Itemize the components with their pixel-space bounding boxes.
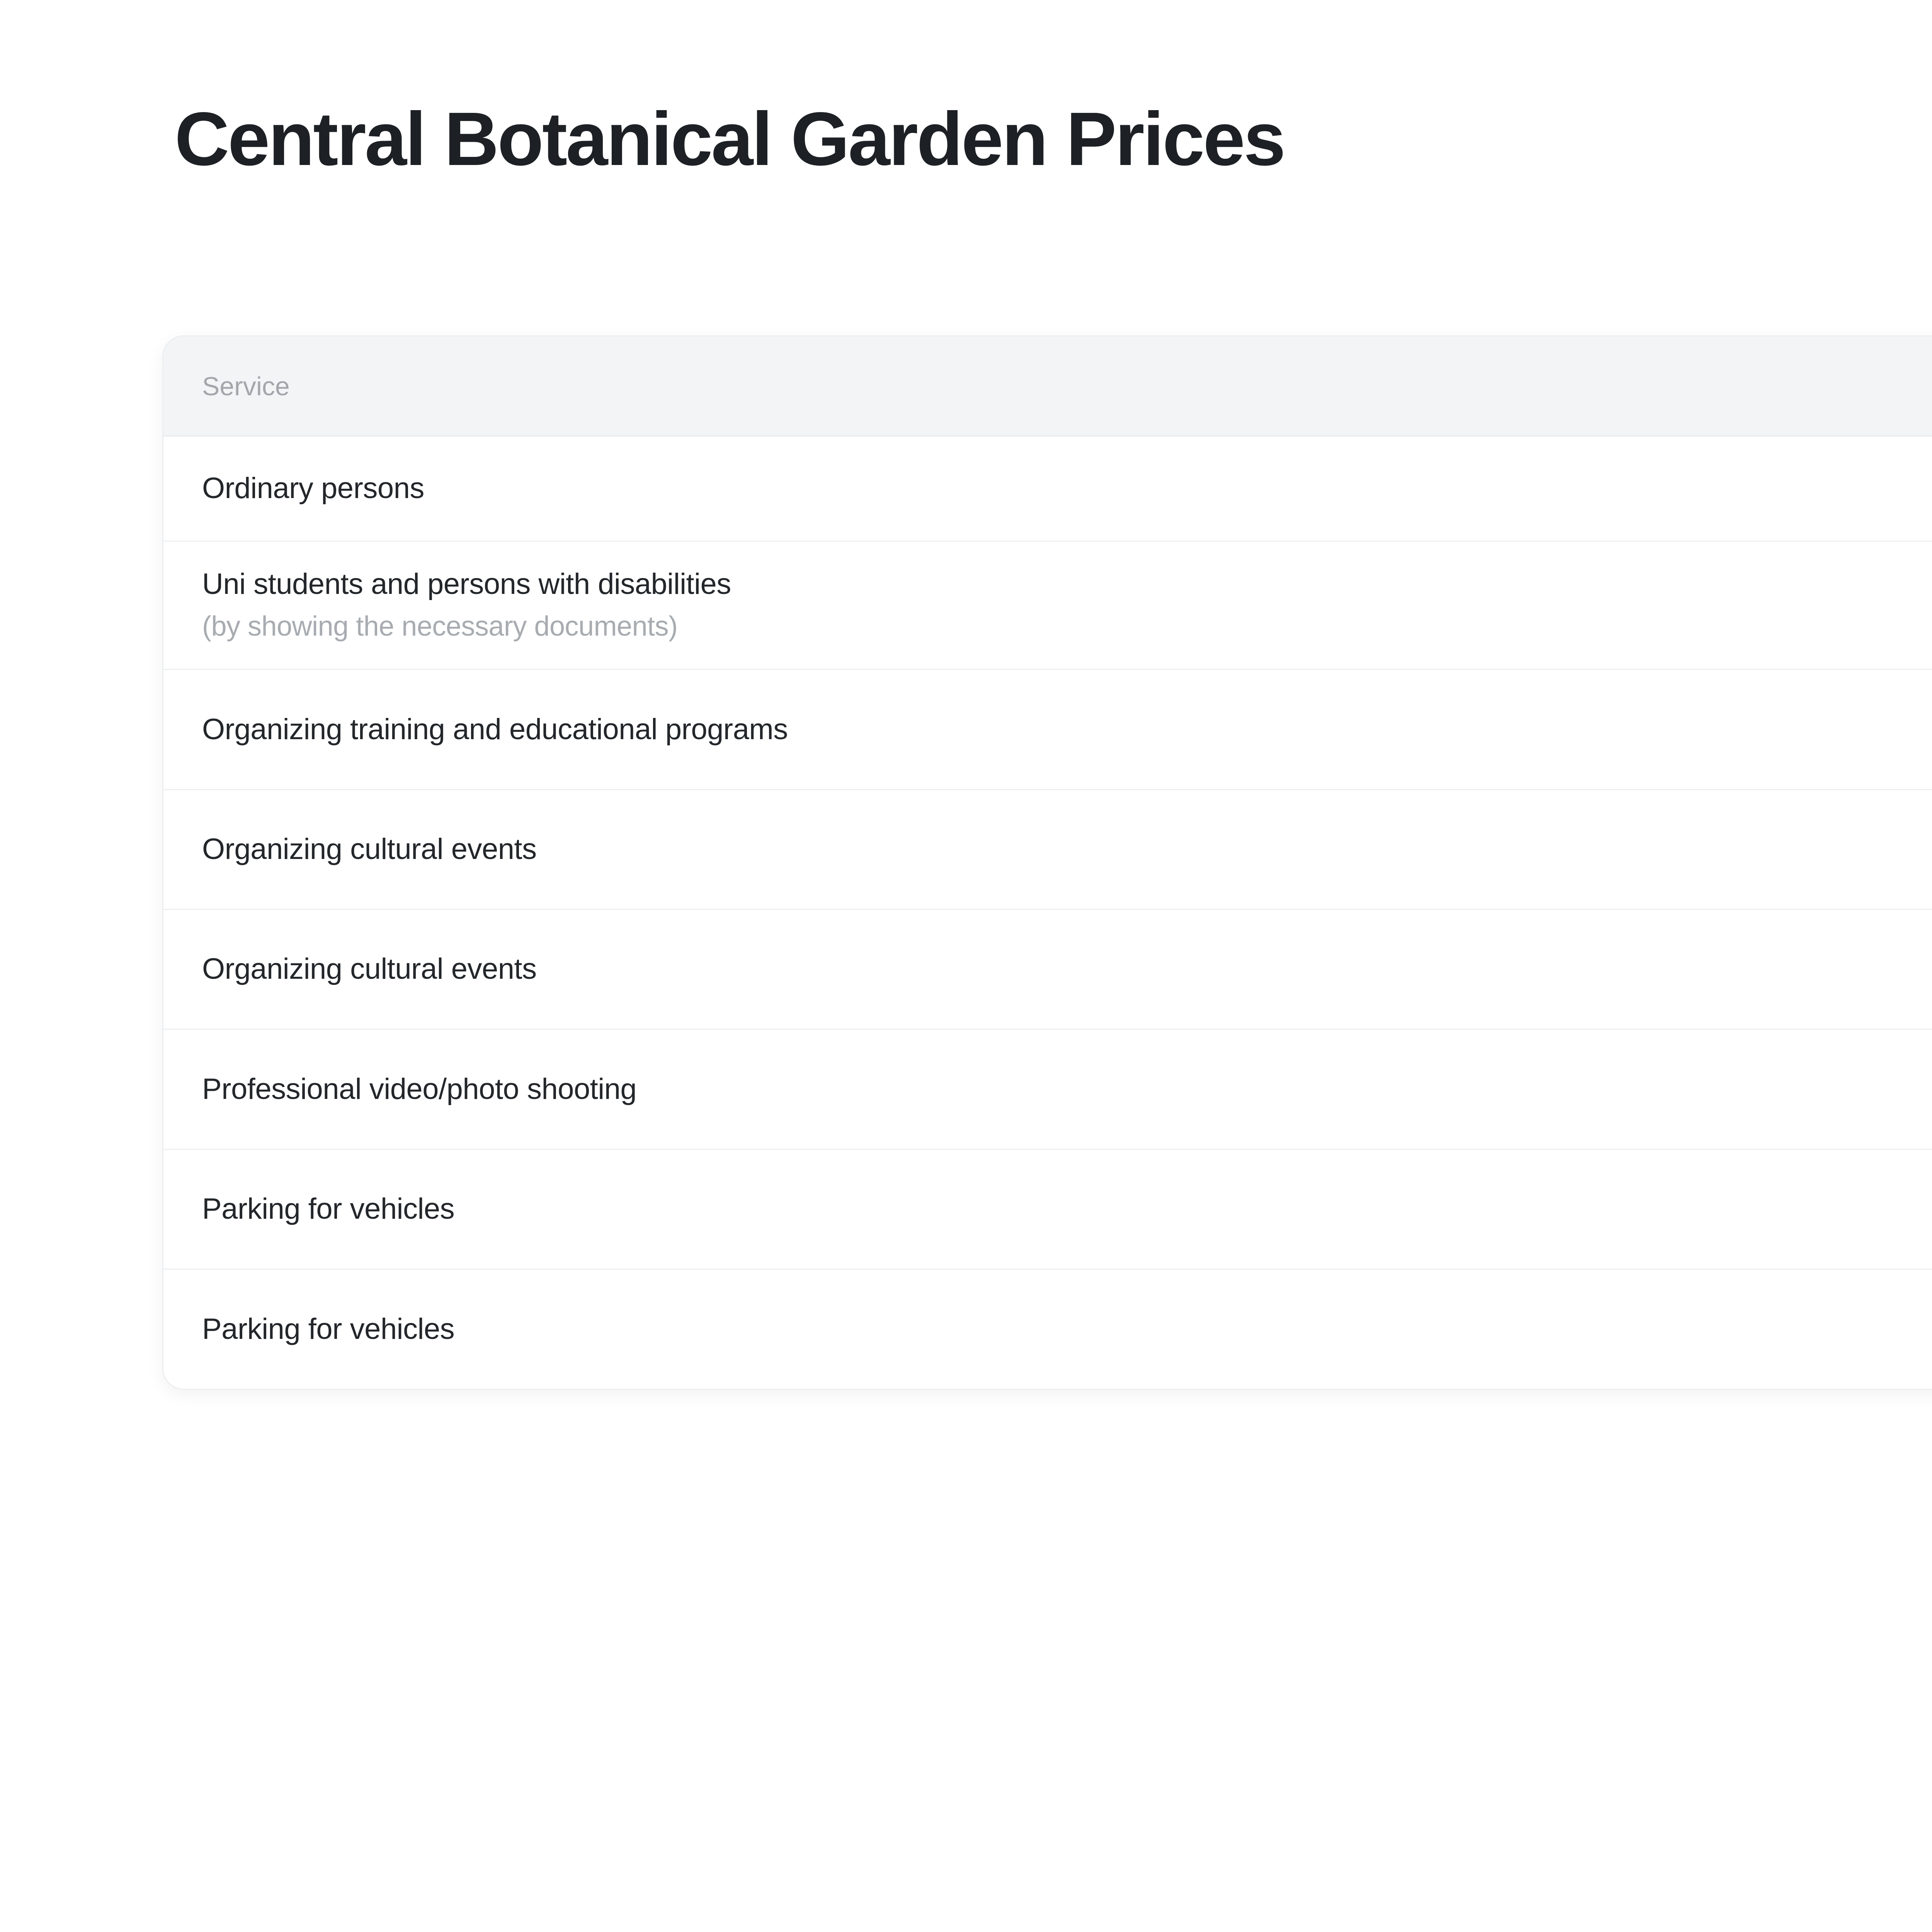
service-name: Organizing cultural events [202,832,1932,867]
service-cell: Professional video/photo shooting [163,1029,1932,1149]
service-cell: Parking for vehicles [163,1149,1932,1269]
table-row: Parking for vehicles0.50₼(per vehicle)Pe… [163,1149,1932,1269]
table-row: Uni students and persons with disabiliti… [163,541,1932,670]
table-row: Organizing cultural events50₼(up to 50 p… [163,789,1932,909]
table-row: Professional video/photo shooting20₼(per… [163,1029,1932,1149]
service-name: Parking for vehicles [202,1191,1932,1227]
table-row: Ordinary persons2₼Daily fee [163,436,1932,541]
service-name: Uni students and persons with disabiliti… [202,566,1932,602]
column-header-service: Service [163,337,1932,436]
table-body: Ordinary persons2₼Daily feeUni students … [163,436,1932,1389]
service-name: Organizing training and educational prog… [202,712,1932,748]
service-cell: Uni students and persons with disabiliti… [163,541,1932,670]
table-header: Service Price Notes [163,337,1932,436]
service-name: Organizing cultural events [202,951,1932,987]
service-name: Ordinary persons [202,471,1932,507]
service-cell: Organizing training and educational prog… [163,670,1932,789]
price-table: Service Price Notes Ordinary persons2₼Da… [163,337,1932,1389]
price-list-page: Central Botanical Garden Prices Service … [0,0,1932,1932]
service-cell: Parking for vehicles [163,1269,1932,1389]
service-name: Professional video/photo shooting [202,1071,1932,1107]
table-row: Parking for vehicles5₼(per vehicle)Per d… [163,1269,1932,1389]
service-cell: Organizing cultural events [163,910,1932,1029]
service-subtitle: (by showing the necessary documents) [202,609,1932,644]
service-name: Parking for vehicles [202,1311,1932,1347]
table-row: Organizing cultural events100₼(more than… [163,910,1932,1029]
price-table-card: Service Price Notes Ordinary persons2₼Da… [162,335,1932,1390]
service-cell: Ordinary persons [163,436,1932,541]
table-header-row: Service Price Notes [163,337,1932,436]
service-cell: Organizing cultural events [163,789,1932,909]
page-title: Central Botanical Garden Prices [175,97,1284,182]
table-row: Organizing training and educational prog… [163,670,1932,789]
